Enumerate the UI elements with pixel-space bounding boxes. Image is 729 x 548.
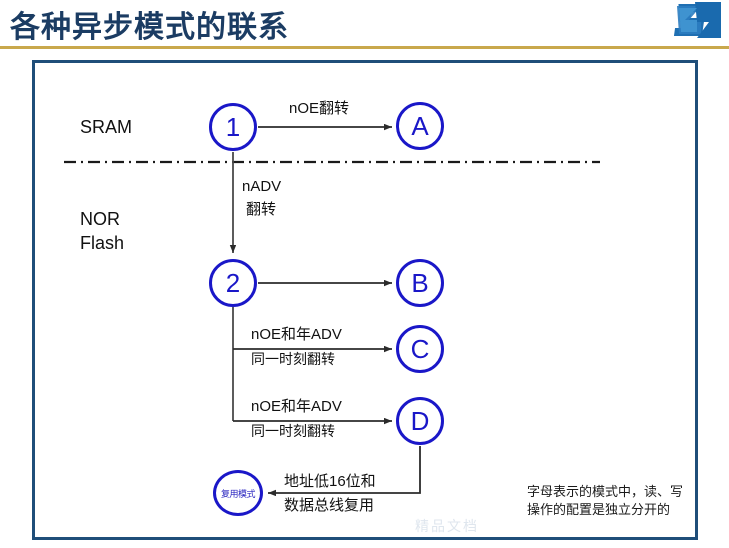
note-line-2: 操作的配置是独立分开的 (527, 501, 670, 519)
node-2[interactable]: 2 (209, 259, 257, 307)
region-label-flash: Flash (80, 232, 124, 255)
edge-label-2-to-D-top: nOE和年ADV (251, 398, 342, 417)
page-title: 各种异步模式的联系 (10, 2, 289, 46)
edge-label-D-to-mux-bottom: 数据总线复用 (284, 497, 374, 516)
node-1[interactable]: 1 (209, 103, 257, 151)
edge-label-2-to-C-bottom: 同一时刻翻转 (251, 351, 335, 369)
node-C[interactable]: C (396, 325, 444, 373)
node-mux-mode[interactable]: 复用模式 (213, 470, 263, 516)
region-label-sram: SRAM (80, 116, 132, 139)
watermark-text: 精品文档 (415, 516, 479, 536)
node-B[interactable]: B (396, 259, 444, 307)
st-microelectronics-logo-icon (671, 0, 725, 40)
edge-label-D-to-mux-top: 地址低16位和 (284, 473, 376, 492)
edge-label-2-to-C-top: nOE和年ADV (251, 326, 342, 345)
edge-label-1-to-2-bottom: 翻转 (246, 201, 276, 220)
edge-label-1-to-A: nOE翻转 (289, 100, 349, 119)
edge-label-1-to-2-top: nADV (242, 178, 281, 197)
note-line-1: 字母表示的模式中，读、写 (527, 483, 683, 501)
slide-canvas: 各种异步模式的联系 (0, 0, 729, 548)
node-D[interactable]: D (396, 397, 444, 445)
node-A[interactable]: A (396, 102, 444, 150)
edge-label-2-to-D-bottom: 同一时刻翻转 (251, 423, 335, 441)
title-divider (0, 46, 729, 49)
region-label-nor: NOR (80, 208, 120, 231)
